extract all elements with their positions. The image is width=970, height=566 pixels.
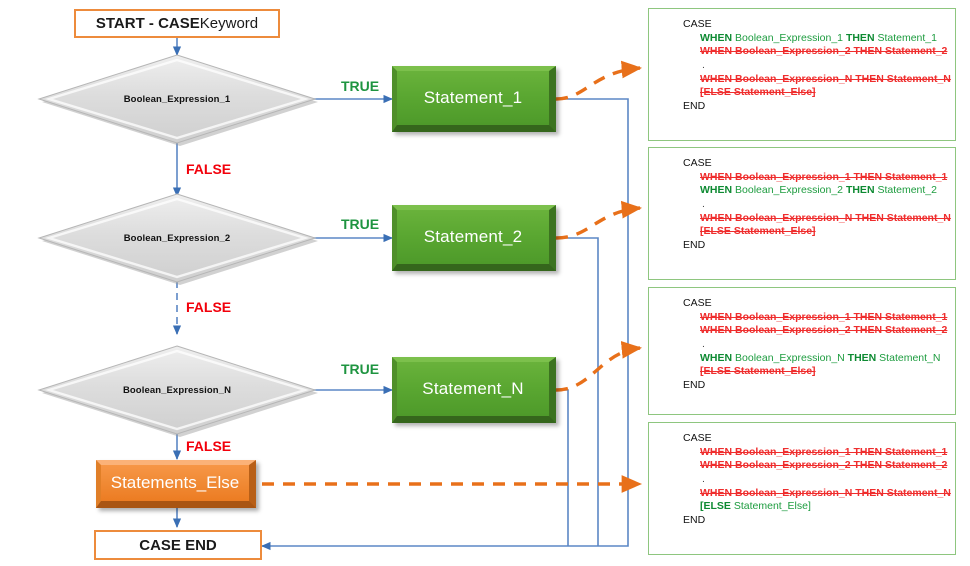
case-panel-2[interactable]: CASE WHEN Boolean_Expression_1 THEN Stat… xyxy=(648,147,956,280)
case-panel-3[interactable]: CASE WHEN Boolean_Expression_1 THEN Stat… xyxy=(648,287,956,415)
panel-3-line-2: WHEN Boolean_Expression_2 THEN Statement… xyxy=(683,324,945,338)
wire-return-2 xyxy=(556,238,598,546)
wire-highlight-2 xyxy=(556,208,640,238)
statements-else-box[interactable]: Statements_Else xyxy=(96,460,256,508)
panel-2-line-2: WHEN Boolean_Expression_2 THEN Statement… xyxy=(683,184,945,198)
panel-1-line-1-expr: Boolean_Expression_1 xyxy=(732,32,846,44)
edge-label-true-2: TRUE xyxy=(341,216,379,232)
panel-1-header: CASE xyxy=(683,18,945,32)
panel-2-line-4: WHEN Boolean_Expression_N THEN Statement… xyxy=(683,212,945,226)
panel-3-line-4: WHEN Boolean_Expression_N THEN Statement… xyxy=(683,352,945,366)
panel-1-line-1: WHEN Boolean_Expression_1 THEN Statement… xyxy=(683,32,945,46)
panel-3-line-4-kw1: WHEN xyxy=(700,352,732,364)
panel-4-line-2: WHEN Boolean_Expression_2 THEN Statement… xyxy=(683,459,945,473)
panel-1-footer: END xyxy=(683,100,945,114)
panel-3-header: CASE xyxy=(683,297,945,311)
decision-1[interactable]: Boolean_Expression_1 xyxy=(39,55,315,143)
panel-2-footer: END xyxy=(683,239,945,253)
wire-highlight-3 xyxy=(556,348,640,390)
statement-box-2-label: Statement_2 xyxy=(424,227,523,247)
panel-4-line-4: WHEN Boolean_Expression_N THEN Statement… xyxy=(683,487,945,501)
panel-4-line-5-kw1: [ELSE xyxy=(700,500,731,512)
panel-1-line-1-kw2: THEN xyxy=(846,32,875,44)
panel-1-ellipsis: . xyxy=(683,59,945,73)
diagram-canvas: START - CASE Keyword Boolean_Expression_… xyxy=(0,0,970,566)
statement-box-3[interactable]: Statement_N xyxy=(392,357,556,423)
panel-2-line-2-expr: Boolean_Expression_2 xyxy=(732,184,846,196)
decision-1-label: Boolean_Expression_1 xyxy=(39,55,315,143)
start-bold-text: START - CASE xyxy=(96,15,200,32)
panel-2-ellipsis: . xyxy=(683,198,945,212)
edge-label-true-1: TRUE xyxy=(341,78,379,94)
panel-4-footer: END xyxy=(683,514,945,528)
wire-return-3 xyxy=(556,390,568,546)
statements-else-label: Statements_Else xyxy=(111,473,240,493)
statement-box-3-label: Statement_N xyxy=(422,379,523,399)
panel-4-line-1: WHEN Boolean_Expression_1 THEN Statement… xyxy=(683,446,945,460)
decision-3[interactable]: Boolean_Expression_N xyxy=(39,346,315,434)
edge-label-false-3: FALSE xyxy=(186,438,231,454)
panel-2-line-2-stmt: Statement_2 xyxy=(875,184,937,196)
decision-3-label: Boolean_Expression_N xyxy=(39,346,315,434)
panel-1-line-1-kw1: WHEN xyxy=(700,32,732,44)
statement-box-1-label: Statement_1 xyxy=(424,88,523,108)
panel-2-line-2-kw1: WHEN xyxy=(700,184,732,196)
wire-return-1 xyxy=(268,99,628,546)
panel-1-line-1-stmt: Statement_1 xyxy=(875,32,937,44)
panel-2-header: CASE xyxy=(683,157,945,171)
panel-2-line-5: [ELSE Statement_Else] xyxy=(683,225,945,239)
panel-2-line-2-kw2: THEN xyxy=(846,184,875,196)
panel-1-line-2: WHEN Boolean_Expression_2 THEN Statement… xyxy=(683,45,945,59)
wire-highlight-1 xyxy=(556,68,640,99)
panel-4-line-5-expr: Statement_Else] xyxy=(731,500,811,512)
case-panel-1[interactable]: CASE WHEN Boolean_Expression_1 THEN Stat… xyxy=(648,8,956,141)
start-rest-text: Keyword xyxy=(200,15,258,32)
panel-3-line-4-kw2: THEN xyxy=(848,352,877,364)
decision-2[interactable]: Boolean_Expression_2 xyxy=(39,194,315,282)
panel-2-line-1: WHEN Boolean_Expression_1 THEN Statement… xyxy=(683,171,945,185)
edge-label-false-2: FALSE xyxy=(186,299,231,315)
case-panel-4[interactable]: CASE WHEN Boolean_Expression_1 THEN Stat… xyxy=(648,422,956,555)
panel-3-line-4-stmt: Statement_N xyxy=(876,352,940,364)
panel-4-header: CASE xyxy=(683,432,945,446)
panel-3-footer: END xyxy=(683,379,945,393)
decision-2-label: Boolean_Expression_2 xyxy=(39,194,315,282)
panel-3-line-4-expr: Boolean_Expression_N xyxy=(732,352,848,364)
panel-3-ellipsis: . xyxy=(683,338,945,352)
edge-label-true-3: TRUE xyxy=(341,361,379,377)
panel-1-line-4: WHEN Boolean_Expression_N THEN Statement… xyxy=(683,73,945,87)
statement-box-2[interactable]: Statement_2 xyxy=(392,205,556,271)
panel-3-line-5: [ELSE Statement_Else] xyxy=(683,365,945,379)
case-end-label: CASE END xyxy=(139,537,217,554)
start-terminator[interactable]: START - CASE Keyword xyxy=(74,9,280,38)
panel-3-line-1: WHEN Boolean_Expression_1 THEN Statement… xyxy=(683,311,945,325)
panel-4-line-5: [ELSE Statement_Else] xyxy=(683,500,945,514)
panel-4-ellipsis: . xyxy=(683,473,945,487)
panel-1-line-5: [ELSE Statement_Else] xyxy=(683,86,945,100)
edge-label-false-1: FALSE xyxy=(186,161,231,177)
case-end-terminator[interactable]: CASE END xyxy=(94,530,262,560)
statement-box-1[interactable]: Statement_1 xyxy=(392,66,556,132)
